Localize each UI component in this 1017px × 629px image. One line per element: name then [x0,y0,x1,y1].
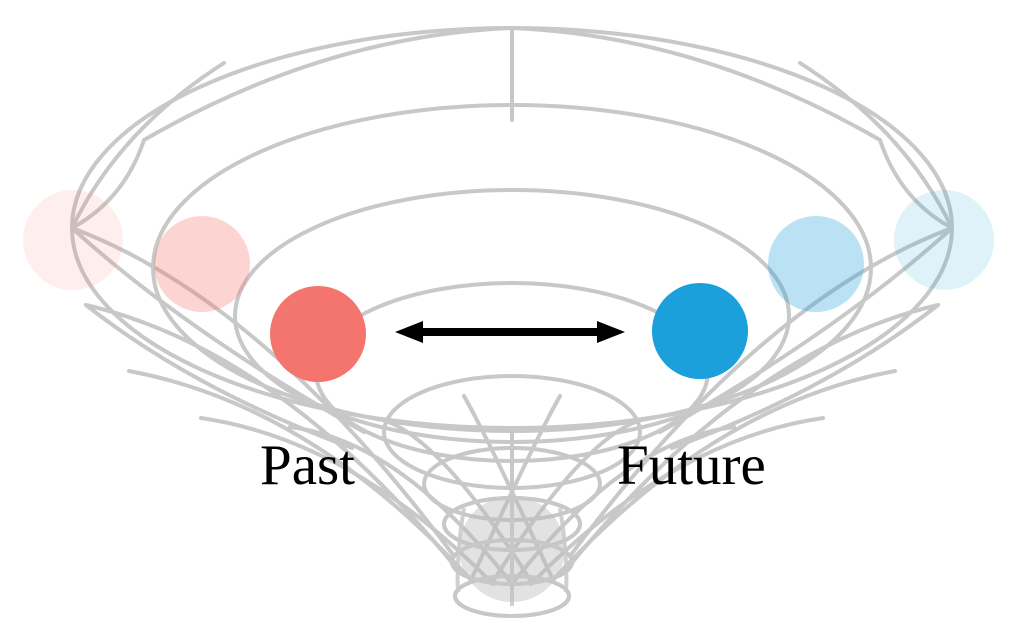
past-ghost-near-sphere [154,216,250,312]
past-event-chain [23,190,250,312]
past-main-sphere[interactable] [270,286,366,382]
arrow-shaft [415,328,605,336]
future-main-sphere[interactable] [652,283,748,379]
future-ghost-near-sphere [768,216,864,312]
arrow-head-right [597,321,625,343]
future-label: Future [617,437,766,494]
past-ghost-far-sphere [23,190,123,290]
past-label: Past [260,437,355,494]
arrow-head-left [395,321,423,343]
future-ghost-far-sphere [894,190,994,290]
double-headed-arrow [395,321,625,343]
future-event-chain [768,190,994,312]
spacetime-funnel-illustration [0,0,1017,629]
diagram-canvas: Past Future [0,0,1017,629]
